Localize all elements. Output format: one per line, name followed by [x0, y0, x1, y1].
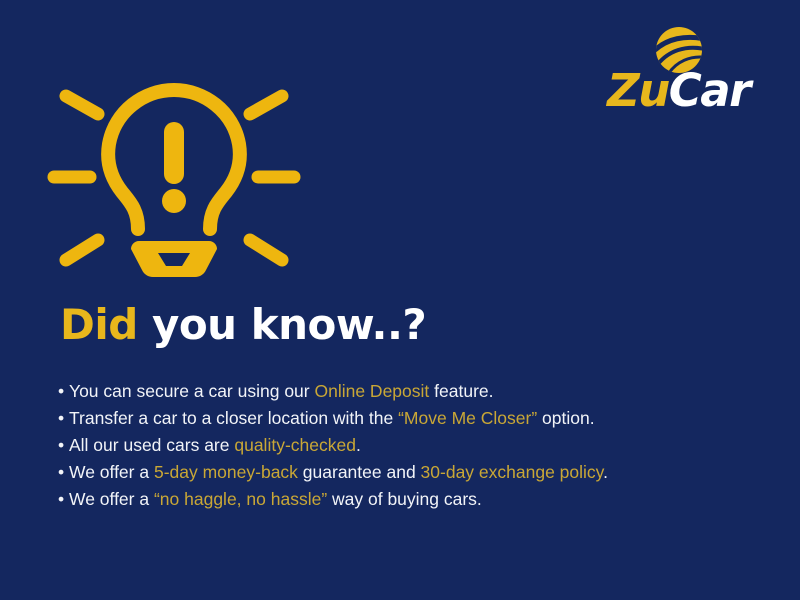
- bullet-marker-icon: •: [58, 459, 69, 486]
- list-item-highlight: “Move Me Closer”: [398, 408, 537, 428]
- facts-list: •You can secure a car using our Online D…: [58, 378, 758, 513]
- list-item-text: Transfer a car to a closer location with…: [69, 408, 398, 428]
- brand-logo: ZuCar: [591, 24, 766, 124]
- list-item-text: .: [356, 435, 361, 455]
- list-item: •All our used cars are quality-checked.: [58, 432, 758, 459]
- page-title-highlight: Did: [60, 300, 138, 349]
- bullet-marker-icon: •: [58, 405, 69, 432]
- list-item-text: We offer a: [69, 489, 154, 509]
- list-item-text: way of buying cars.: [327, 489, 482, 509]
- list-item-highlight: Online Deposit: [314, 381, 429, 401]
- lightbulb-exclamation-icon: [38, 72, 310, 284]
- page-title-rest: you know..?: [138, 300, 426, 349]
- list-item-highlight: quality-checked: [234, 435, 356, 455]
- list-item-highlight: “no haggle, no hassle”: [154, 489, 327, 509]
- promo-slide: ZuCar: [0, 0, 800, 600]
- bullet-marker-icon: •: [58, 432, 69, 459]
- brand-wordmark: ZuCar: [591, 68, 766, 113]
- list-item-text: All our used cars are: [69, 435, 234, 455]
- bulb-base: [131, 241, 217, 277]
- bullet-marker-icon: •: [58, 378, 69, 405]
- brand-wordmark-zu: Zu: [607, 64, 669, 117]
- list-item-text: feature.: [429, 381, 493, 401]
- list-item-text: option.: [537, 408, 594, 428]
- page-title: Did you know..?: [60, 302, 426, 348]
- list-item: •We offer a “no haggle, no hassle” way o…: [58, 486, 758, 513]
- list-item-text: .: [603, 462, 608, 482]
- list-item-highlight: 30-day exchange policy: [421, 462, 604, 482]
- list-item-highlight: 5-day money-back: [154, 462, 298, 482]
- list-item: •You can secure a car using our Online D…: [58, 378, 758, 405]
- list-item: •Transfer a car to a closer location wit…: [58, 405, 758, 432]
- exclamation-mark: [162, 122, 186, 213]
- list-item: •We offer a 5-day money-back guarantee a…: [58, 459, 758, 486]
- list-item-text: We offer a: [69, 462, 154, 482]
- list-item-text: guarantee and: [298, 462, 421, 482]
- brand-wordmark-car: Car: [669, 64, 750, 117]
- bullet-marker-icon: •: [58, 486, 69, 513]
- list-item-text: You can secure a car using our: [69, 381, 314, 401]
